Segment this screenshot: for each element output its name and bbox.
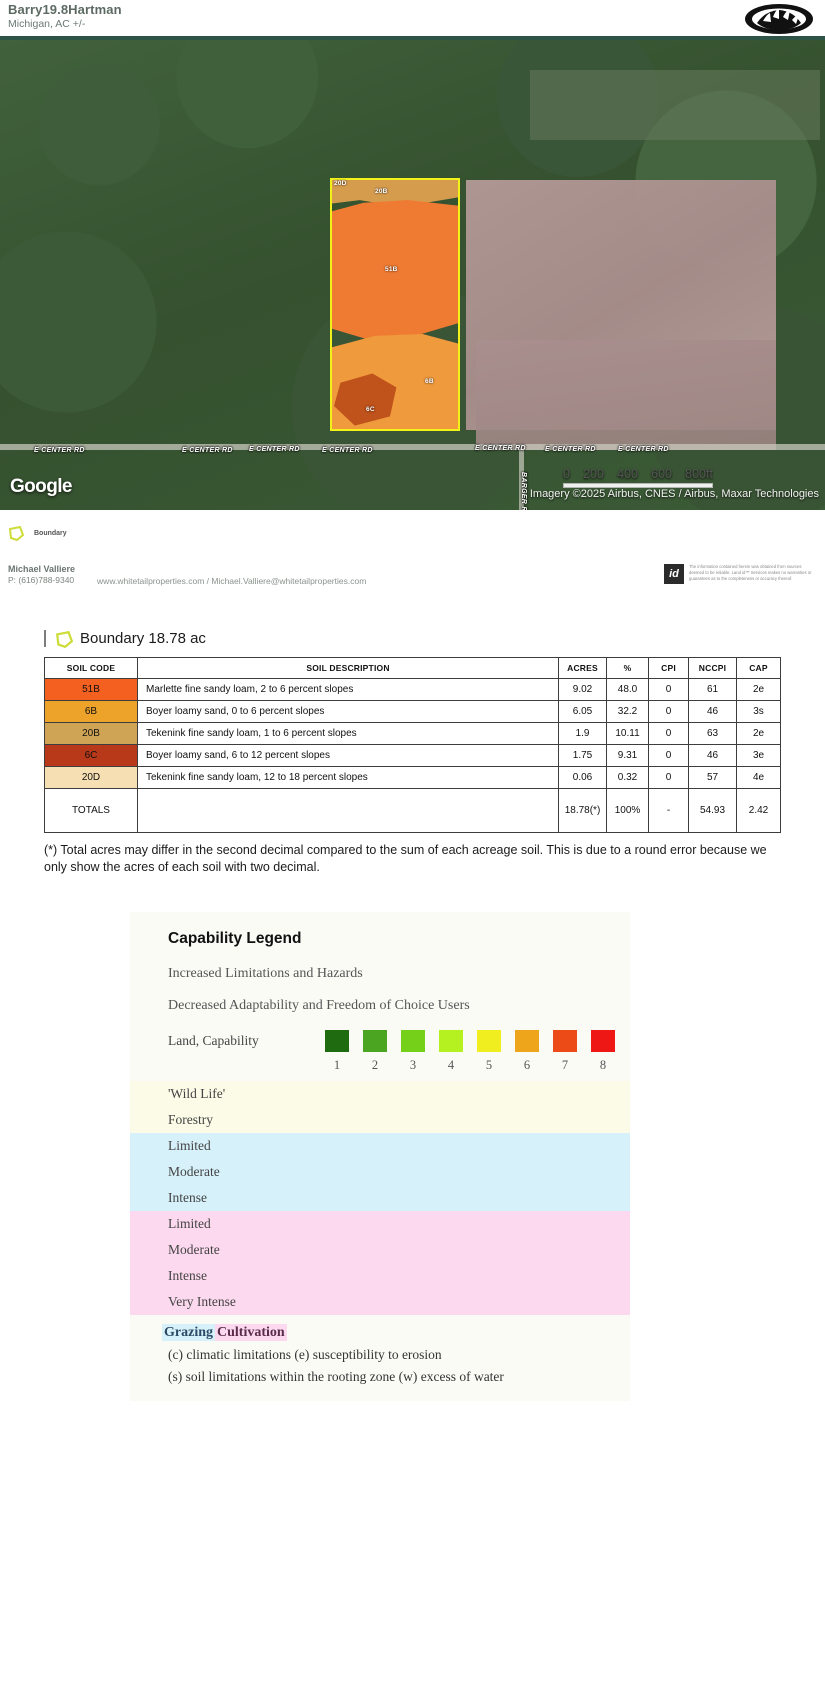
capability-footer: GrazingCultivation (c) climatic limitati… [130, 1325, 630, 1385]
page-subtitle: Michigan, AC +/- [8, 19, 122, 30]
capability-swatch-5 [470, 1030, 508, 1052]
cell-totals-cpi: - [649, 789, 689, 833]
capability-color-scale [318, 1030, 622, 1052]
capability-class-number: 2 [356, 1058, 394, 1073]
scale-tick-0: 0 [563, 467, 570, 481]
road-label-e-center-rd: E CENTER RD [475, 445, 526, 452]
color-swatch-icon [591, 1030, 615, 1052]
capability-row-label: 'Wild Life' [168, 1086, 318, 1102]
capability-class-numbers: 12345678 [318, 1058, 622, 1073]
capability-row-label: Limited [168, 1138, 318, 1154]
whitetail-properties-logo-icon [743, 3, 815, 35]
soil-table: SOIL CODE SOIL DESCRIPTION ACRES % CPI N… [44, 657, 781, 833]
cell-cap: 3e [737, 745, 781, 767]
cell-totals-acres: 18.78(*) [559, 789, 607, 833]
google-logo: Google [10, 476, 72, 498]
map-scale-bar: 0 200 400 600 800ft [563, 467, 713, 488]
cell-cpi: 0 [649, 767, 689, 789]
map-label-20d: 20D [334, 180, 347, 187]
map-attribution: Imagery ©2025 Airbus, CNES / Airbus, Max… [530, 488, 819, 500]
polygon-icon [8, 526, 24, 541]
cell-acres: 9.02 [559, 679, 607, 701]
map-road-center [0, 444, 825, 450]
cell-nccpi: 61 [689, 679, 737, 701]
capability-row-label: Moderate [168, 1242, 318, 1258]
capability-line-adaptability: Decreased Adaptability and Freedom of Ch… [130, 998, 630, 1014]
agent-name: Michael Valliere [8, 564, 75, 574]
capability-class-number: 5 [470, 1058, 508, 1073]
scale-tick-600: 600 [651, 467, 672, 481]
col-header-cpi: CPI [649, 658, 689, 679]
color-swatch-icon [325, 1030, 349, 1052]
capability-class-number: 6 [508, 1058, 546, 1073]
capability-swatch-3 [394, 1030, 432, 1052]
color-swatch-icon [515, 1030, 539, 1052]
capability-swatch-6 [508, 1030, 546, 1052]
table-row: 6B Boyer loamy sand, 0 to 6 percent slop… [45, 701, 781, 723]
cell-description: Tekenink fine sandy loam, 12 to 18 perce… [138, 767, 559, 789]
capability-footnote-1: (c) climatic limitations (e) susceptibil… [162, 1347, 630, 1363]
soil-report-section: Boundary 18.78 ac SOIL CODE SOIL DESCRIP… [0, 604, 825, 876]
rounding-note: (*) Total acres may differ in the second… [44, 842, 781, 876]
road-label-e-center-rd: E CENTER RD [545, 446, 596, 453]
cell-cap: 3s [737, 701, 781, 723]
color-swatch-icon [439, 1030, 463, 1052]
cell-description: Boyer loamy sand, 6 to 12 percent slopes [138, 745, 559, 767]
road-label-e-center-rd: E CENTER RD [618, 446, 669, 453]
agent-phone: P: (616)788-9340 [8, 575, 75, 585]
cell-nccpi: 63 [689, 723, 737, 745]
cell-percent: 0.32 [607, 767, 649, 789]
road-label-e-center-rd: E CENTER RD [34, 447, 85, 454]
col-header-nccpi: NCCPI [689, 658, 737, 679]
table-row: 20D Tekenink fine sandy loam, 12 to 18 p… [45, 767, 781, 789]
cell-totals-nccpi: 54.93 [689, 789, 737, 833]
soil-heading-row: Boundary 18.78 ac [44, 630, 781, 647]
cell-percent: 9.31 [607, 745, 649, 767]
map-legend-strip: Boundary [0, 510, 825, 556]
soil-heading: Boundary 18.78 ac [80, 630, 206, 647]
disclaimer-text: The information contained herein was obt… [689, 564, 817, 582]
table-header-row: SOIL CODE SOIL DESCRIPTION ACRES % CPI N… [45, 658, 781, 679]
agent-web-email[interactable]: www.whitetailproperties.com / Michael.Va… [97, 576, 366, 586]
cell-cpi: 0 [649, 745, 689, 767]
table-row: 51B Marlette fine sandy loam, 2 to 6 per… [45, 679, 781, 701]
capability-swatch-row: Land, Capability [130, 1030, 630, 1052]
cell-soil-code: 6C [45, 745, 138, 767]
cell-percent: 10.11 [607, 723, 649, 745]
aerial-map[interactable]: E CENTER RD E CENTER RD E CENTER RD E CE… [0, 40, 825, 510]
capability-row-9: Very Intense [130, 1289, 630, 1315]
land-id-badge-icon: id [664, 564, 684, 584]
capability-class-number: 8 [584, 1058, 622, 1073]
cell-description: Marlette fine sandy loam, 2 to 6 percent… [138, 679, 559, 701]
capability-row-label: Intense [168, 1190, 318, 1206]
cell-acres: 0.06 [559, 767, 607, 789]
map-field-southeast [476, 340, 776, 450]
capability-swatch-2 [356, 1030, 394, 1052]
agent-identity: Michael Valliere P: (616)788-9340 [8, 564, 75, 585]
capability-footnote-2: (s) soil limitations within the rooting … [162, 1369, 630, 1385]
color-swatch-icon [553, 1030, 577, 1052]
road-label-barger-rd: BARGER RD [520, 472, 527, 510]
map-boundary-outline [330, 178, 460, 431]
cell-cpi: 0 [649, 723, 689, 745]
cell-cap: 2e [737, 679, 781, 701]
col-header-cap: CAP [737, 658, 781, 679]
map-label-6b: 6B [425, 378, 434, 385]
col-header-percent: % [607, 658, 649, 679]
capability-row-4: Moderate [130, 1159, 630, 1185]
col-header-soil-code: SOIL CODE [45, 658, 138, 679]
cell-totals-percent: 100% [607, 789, 649, 833]
road-label-e-center-rd: E CENTER RD [249, 446, 300, 453]
capability-row-label: Intense [168, 1268, 318, 1284]
table-row: 6C Boyer loamy sand, 6 to 12 percent slo… [45, 745, 781, 767]
scale-tick-400: 400 [617, 467, 638, 481]
cell-percent: 32.2 [607, 701, 649, 723]
capability-line-limitations: Increased Limitations and Hazards [130, 966, 630, 982]
capability-row-5: Intense [130, 1185, 630, 1211]
map-label-51b: 51B [385, 266, 398, 273]
cell-soil-code: 6B [45, 701, 138, 723]
heading-accent-bar [44, 630, 46, 647]
cell-description: Boyer loamy sand, 0 to 6 percent slopes [138, 701, 559, 723]
capability-class-number: 3 [394, 1058, 432, 1073]
capability-legend: Capability Legend Increased Limitations … [130, 912, 630, 1401]
capability-key-row: GrazingCultivation [162, 1325, 630, 1341]
scale-bar-line [563, 483, 713, 488]
page-title: Barry19.8Hartman [8, 3, 122, 17]
header-text-block: Barry19.8Hartman Michigan, AC +/- [8, 3, 122, 30]
capability-axis-label: Land, Capability [168, 1033, 318, 1049]
capability-swatch-7 [546, 1030, 584, 1052]
capability-swatch-1 [318, 1030, 356, 1052]
map-label-20b: 20B [375, 188, 388, 195]
capability-class-number: 4 [432, 1058, 470, 1073]
cell-acres: 1.9 [559, 723, 607, 745]
cell-totals-cap: 2.42 [737, 789, 781, 833]
cell-acres: 6.05 [559, 701, 607, 723]
cell-totals-description [138, 789, 559, 833]
color-swatch-icon [401, 1030, 425, 1052]
capability-row-label: Forestry [168, 1112, 318, 1128]
map-label-6c: 6C [366, 406, 375, 413]
capability-row-label: Moderate [168, 1164, 318, 1180]
cell-acres: 1.75 [559, 745, 607, 767]
capability-rows: 'Wild Life'ForestryLimitedModerateIntens… [130, 1081, 630, 1315]
cell-soil-code: 20D [45, 767, 138, 789]
road-label-e-center-rd: E CENTER RD [182, 447, 233, 454]
cell-description: Tekenink fine sandy loam, 1 to 6 percent… [138, 723, 559, 745]
capability-class-number: 1 [318, 1058, 356, 1073]
color-swatch-icon [363, 1030, 387, 1052]
key-grazing: Grazing [162, 1324, 215, 1341]
col-header-acres: ACRES [559, 658, 607, 679]
page-header: Barry19.8Hartman Michigan, AC +/- [0, 0, 825, 36]
cell-totals-label: TOTALS [45, 789, 138, 833]
map-legend-label: Boundary [34, 530, 67, 537]
capability-number-row: 12345678 [130, 1058, 630, 1073]
capability-row-6: Limited [130, 1211, 630, 1237]
capability-row-8: Intense [130, 1263, 630, 1289]
cell-nccpi: 46 [689, 701, 737, 723]
map-field-north [530, 70, 820, 140]
cell-soil-code: 51B [45, 679, 138, 701]
col-header-description: SOIL DESCRIPTION [138, 658, 559, 679]
color-swatch-icon [477, 1030, 501, 1052]
cell-cap: 2e [737, 723, 781, 745]
cell-nccpi: 57 [689, 767, 737, 789]
table-totals-row: TOTALS 18.78(*) 100% - 54.93 2.42 [45, 789, 781, 833]
capability-row-1: 'Wild Life' [130, 1081, 630, 1107]
cell-cap: 4e [737, 767, 781, 789]
capability-title: Capability Legend [130, 930, 630, 948]
polygon-icon [55, 631, 71, 646]
cell-soil-code: 20B [45, 723, 138, 745]
cell-cpi: 0 [649, 701, 689, 723]
scale-tick-800: 800ft [685, 467, 713, 481]
capability-class-number: 7 [546, 1058, 584, 1073]
scale-tick-200: 200 [583, 467, 604, 481]
capability-row-2: Forestry [130, 1107, 630, 1133]
capability-row-7: Moderate [130, 1237, 630, 1263]
capability-row-3: Limited [130, 1133, 630, 1159]
road-label-e-center-rd: E CENTER RD [322, 447, 373, 454]
capability-row-label: Very Intense [168, 1294, 318, 1310]
capability-swatch-8 [584, 1030, 622, 1052]
table-row: 20B Tekenink fine sandy loam, 1 to 6 per… [45, 723, 781, 745]
capability-row-label: Limited [168, 1216, 318, 1232]
cell-cpi: 0 [649, 679, 689, 701]
disclaimer-block: id The information contained herein was … [664, 564, 817, 584]
cell-percent: 48.0 [607, 679, 649, 701]
cell-nccpi: 46 [689, 745, 737, 767]
agent-contact-block: Michael Valliere P: (616)788-9340 www.wh… [0, 556, 825, 604]
key-cultivation: Cultivation [215, 1324, 287, 1341]
capability-swatch-4 [432, 1030, 470, 1052]
